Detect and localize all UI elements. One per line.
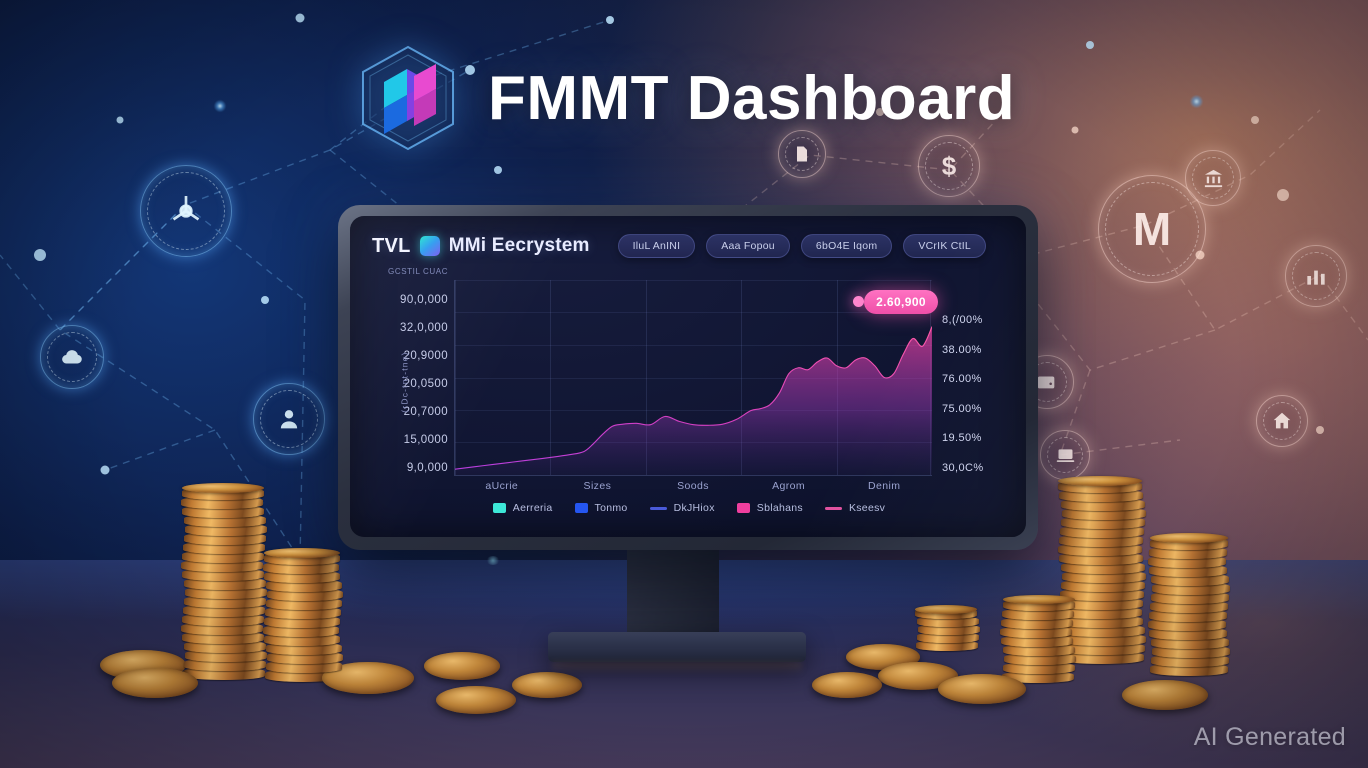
- dashboard-toolbar: TVL MMi Eecrystem IluL AnINI Aaa Fopou 6…: [372, 234, 1006, 258]
- legend-label: Tonmo: [595, 502, 628, 514]
- dashboard-title: TVL: [372, 235, 411, 258]
- y-tick-right: 75.00%: [942, 403, 982, 415]
- x-axis-ticks: aUcrie Sizes Soods Agrom Denim: [454, 480, 932, 492]
- legend-item-sblahans[interactable]: Sblahans: [737, 502, 803, 514]
- x-tick: aUcrie: [454, 480, 550, 492]
- legend-label: Kseesv: [849, 502, 885, 514]
- y-tick: 20,7000: [404, 406, 448, 418]
- y-tick: 15,0000: [404, 434, 448, 446]
- y-tick: 9,0,000: [407, 462, 448, 474]
- bg-glow-dot: [1190, 95, 1203, 108]
- legend-label: Sblahans: [757, 502, 803, 514]
- legend-swatch: [493, 503, 506, 513]
- dashboard-title-group: TVL MMi Eecrystem: [372, 235, 590, 258]
- legend-item-dkjhiox[interactable]: DkJHiox: [650, 502, 715, 514]
- scene-root: M $: [0, 0, 1368, 768]
- legend-label: DkJHiox: [674, 502, 715, 514]
- bg-glow-dot: [214, 100, 226, 112]
- legend-swatch: [575, 503, 588, 513]
- monitor-stand-neck: [627, 548, 719, 640]
- y-tick: 20,9000: [404, 350, 448, 362]
- legend-label: Aerreria: [513, 502, 553, 514]
- network-node-laptop-icon: [1040, 430, 1090, 480]
- y-tick-right: 76.00%: [942, 373, 982, 385]
- legend-line: [825, 507, 842, 510]
- network-node-user-icon: [253, 383, 325, 455]
- y-axis-label: (rDc-tnt-tne): [400, 351, 410, 412]
- network-node-bank-icon: [1185, 150, 1241, 206]
- chart-latest-point-marker: [853, 296, 864, 307]
- monitor-screen: TVL MMi Eecrystem IluL AnINI Aaa Fopou 6…: [350, 216, 1026, 537]
- dashboard-caption: GCSTIL CUAC: [388, 267, 1006, 276]
- legend-line: [650, 507, 667, 510]
- legend-item-tonmo[interactable]: Tonmo: [575, 502, 628, 514]
- y-tick: 20,0500: [404, 378, 448, 390]
- chart-container: (rDc-tnt-tne) 90,0,000 32,0,000 20,9000 …: [372, 280, 1006, 476]
- page-header: FMMT Dashboard: [352, 42, 1015, 154]
- tvl-gem-icon: [420, 236, 440, 256]
- network-node-cloud-icon: [40, 325, 104, 389]
- pill-button-4[interactable]: VCrIK CtIL: [903, 234, 986, 258]
- y-tick-right: 8,(/00%: [942, 314, 983, 326]
- legend-swatch: [737, 503, 750, 513]
- chart-plot-area: 2.60,900: [454, 280, 932, 476]
- y-axis-ticks: 90,0,000 32,0,000 20,9000 20,0500 20,700…: [372, 280, 454, 476]
- y-tick-right: 19.50%: [942, 432, 982, 444]
- monitor-stand-base: [548, 632, 806, 662]
- pill-button-1[interactable]: IluL AnINI: [618, 234, 696, 258]
- dashboard-ui: TVL MMi Eecrystem IluL AnINI Aaa Fopou 6…: [350, 216, 1026, 537]
- ai-generated-watermark: AI Generated: [1194, 723, 1346, 752]
- x-tick: Sizes: [550, 480, 646, 492]
- x-tick: Soods: [645, 480, 741, 492]
- chart-value-badge: 2.60,900: [864, 290, 938, 314]
- y-tick-right: 30,0C%: [942, 462, 984, 474]
- network-node-home-icon: [1256, 395, 1308, 447]
- dashboard-subtitle: MMi Eecrystem: [449, 235, 590, 257]
- network-node-chart-icon: [1285, 245, 1347, 307]
- chart-legend: Aerreria Tonmo DkJHiox Sblahans: [372, 502, 1006, 514]
- x-tick: Denim: [836, 480, 932, 492]
- x-tick: Agrom: [741, 480, 837, 492]
- y-axis-right-ticks: 8,(/00% 38.00% 76.00% 75.00% 19.50% 30,0…: [932, 280, 1006, 476]
- page-title: FMMT Dashboard: [488, 63, 1015, 134]
- chart-series-kseesv: [455, 280, 932, 475]
- network-node-hub-icon: [140, 165, 232, 257]
- hex-cube-logo-icon: [352, 42, 464, 154]
- y-tick: 90,0,000: [400, 294, 448, 306]
- legend-item-aerreria[interactable]: Aerreria: [493, 502, 553, 514]
- y-tick: 32,0,000: [400, 322, 448, 334]
- dashboard-pill-nav: IluL AnINI Aaa Fopou 6bO4E Iqom VCrIK Ct…: [618, 234, 986, 258]
- y-tick-right: 38.00%: [942, 344, 982, 356]
- pill-button-2[interactable]: Aaa Fopou: [706, 234, 790, 258]
- pill-button-3[interactable]: 6bO4E Iqom: [801, 234, 892, 258]
- monitor-power-led: [486, 556, 500, 565]
- legend-item-kseesv[interactable]: Kseesv: [825, 502, 885, 514]
- monitor-frame: TVL MMi Eecrystem IluL AnINI Aaa Fopou 6…: [338, 205, 1038, 550]
